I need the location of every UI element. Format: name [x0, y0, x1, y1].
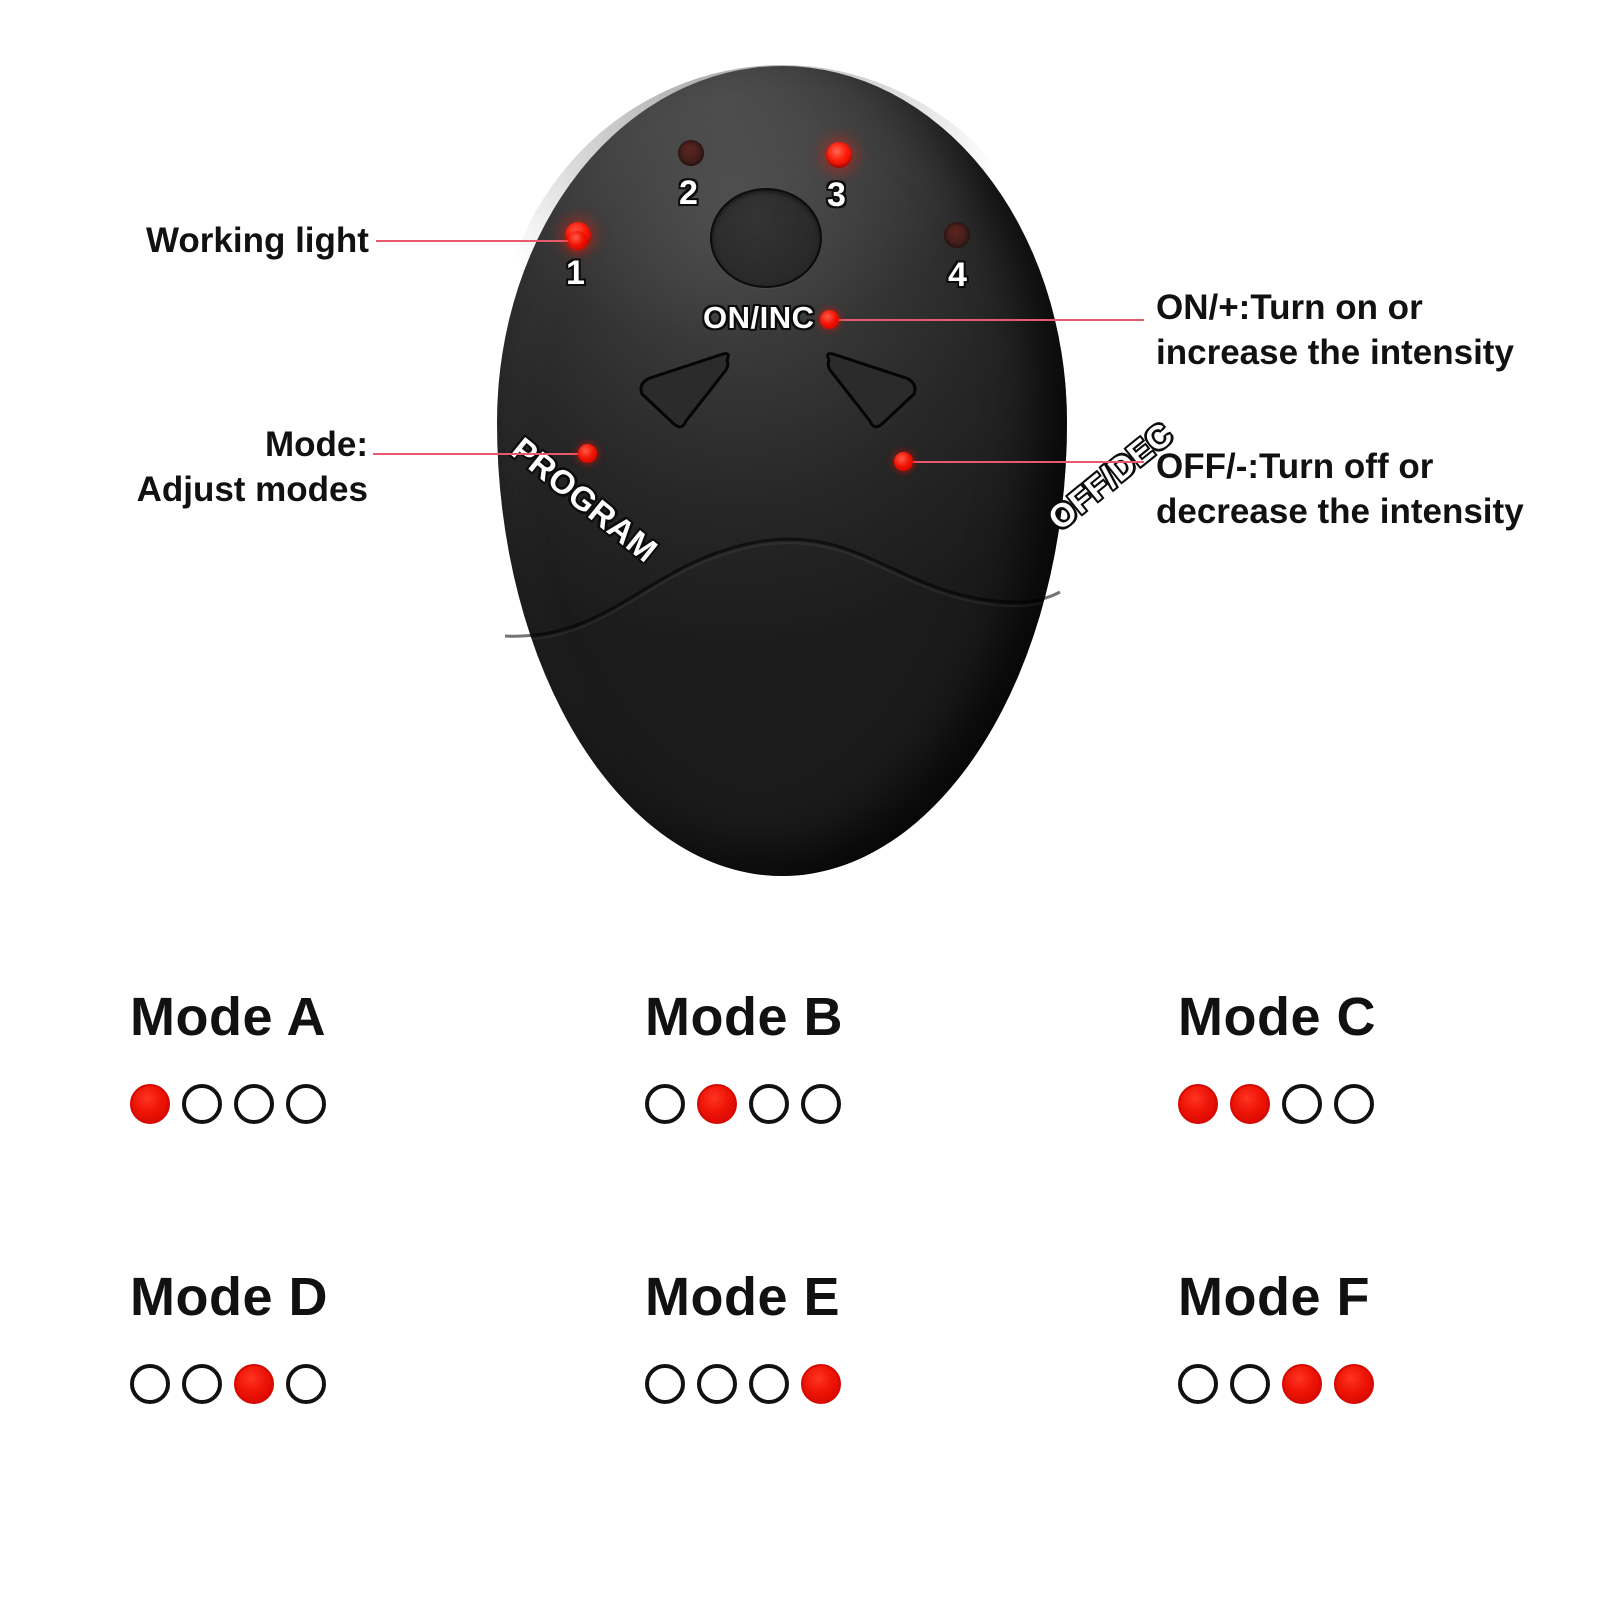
mode-legend: Mode A Mode B Mode C Mode D: [0, 960, 1600, 1580]
label-on-inc: ON/INC: [703, 300, 815, 336]
center-oval-recess: [710, 188, 822, 288]
led-number-4: 4: [948, 258, 967, 292]
mode-item-d: Mode D: [130, 1270, 328, 1404]
mode-dot: [645, 1364, 685, 1404]
callout-dot-off-decrease: [894, 452, 913, 471]
mode-dot: [130, 1084, 170, 1124]
mode-dot: [1178, 1084, 1218, 1124]
callout-label-working-light: Working light: [146, 219, 372, 264]
mode-dot: [286, 1084, 326, 1124]
program-arrow-button[interactable]: [630, 348, 736, 434]
mode-dot: [697, 1084, 737, 1124]
mode-dot: [697, 1364, 737, 1404]
mode-dots-a: [130, 1084, 326, 1124]
mode-item-e: Mode E: [645, 1270, 841, 1404]
mode-dot: [1334, 1084, 1374, 1124]
callout-dot-mode-adjust: [578, 444, 597, 463]
mode-dot: [749, 1364, 789, 1404]
led-number-1: 1: [566, 256, 585, 290]
mode-dots-f: [1178, 1364, 1374, 1404]
mode-dots-d: [130, 1364, 328, 1404]
mode-dot: [1178, 1364, 1218, 1404]
callout-line-mode-adjust: [373, 453, 585, 455]
mode-dot: [1282, 1364, 1322, 1404]
mode-dot: [234, 1364, 274, 1404]
callout-line-off-decrease: [902, 461, 1144, 463]
device-body: [497, 66, 1067, 876]
mode-dot: [801, 1084, 841, 1124]
callout-line-on-increase: [828, 319, 1144, 321]
mode-item-f: Mode F: [1178, 1270, 1374, 1404]
callout-line-working-light: [376, 240, 574, 242]
mode-dots-b: [645, 1084, 843, 1124]
mode-item-a: Mode A: [130, 990, 326, 1124]
mode-dot: [286, 1364, 326, 1404]
callout-label-off-decrease: OFF/-:Turn off or decrease the intensity: [1156, 445, 1576, 535]
led-indicator-2: [678, 140, 704, 166]
mode-title-e: Mode E: [645, 1270, 841, 1324]
callout-label-on-increase: ON/+:Turn on or increase the intensity: [1156, 286, 1576, 376]
mode-dot: [1282, 1084, 1322, 1124]
mode-title-c: Mode C: [1178, 990, 1376, 1044]
mode-dots-e: [645, 1364, 841, 1404]
mode-dot: [801, 1364, 841, 1404]
callout-label-mode-adjust: Mode: Adjust modes: [120, 423, 368, 513]
mode-title-b: Mode B: [645, 990, 843, 1044]
mode-dot: [645, 1084, 685, 1124]
mode-dot: [1230, 1364, 1270, 1404]
mode-dot: [182, 1084, 222, 1124]
mode-title-d: Mode D: [130, 1270, 328, 1324]
mode-item-b: Mode B: [645, 990, 843, 1124]
mode-dot: [749, 1084, 789, 1124]
mode-dot: [1334, 1364, 1374, 1404]
mode-dot: [234, 1084, 274, 1124]
mode-item-c: Mode C: [1178, 990, 1376, 1124]
led-indicator-3: [826, 142, 852, 168]
intensity-arrow-button[interactable]: [820, 348, 926, 434]
mode-dot: [1230, 1084, 1270, 1124]
mode-title-a: Mode A: [130, 990, 326, 1044]
mode-dot: [182, 1364, 222, 1404]
device-illustration: 1 2 3 4 ON/INC PROGRAM OFF/DEC Working l…: [0, 0, 1600, 930]
led-number-2: 2: [679, 176, 698, 210]
callout-dot-working-light: [568, 231, 587, 250]
mode-title-f: Mode F: [1178, 1270, 1374, 1324]
mode-dot: [130, 1364, 170, 1404]
callout-dot-on-increase: [820, 310, 839, 329]
led-number-3: 3: [827, 178, 846, 212]
led-indicator-4: [944, 222, 970, 248]
mode-dots-c: [1178, 1084, 1376, 1124]
